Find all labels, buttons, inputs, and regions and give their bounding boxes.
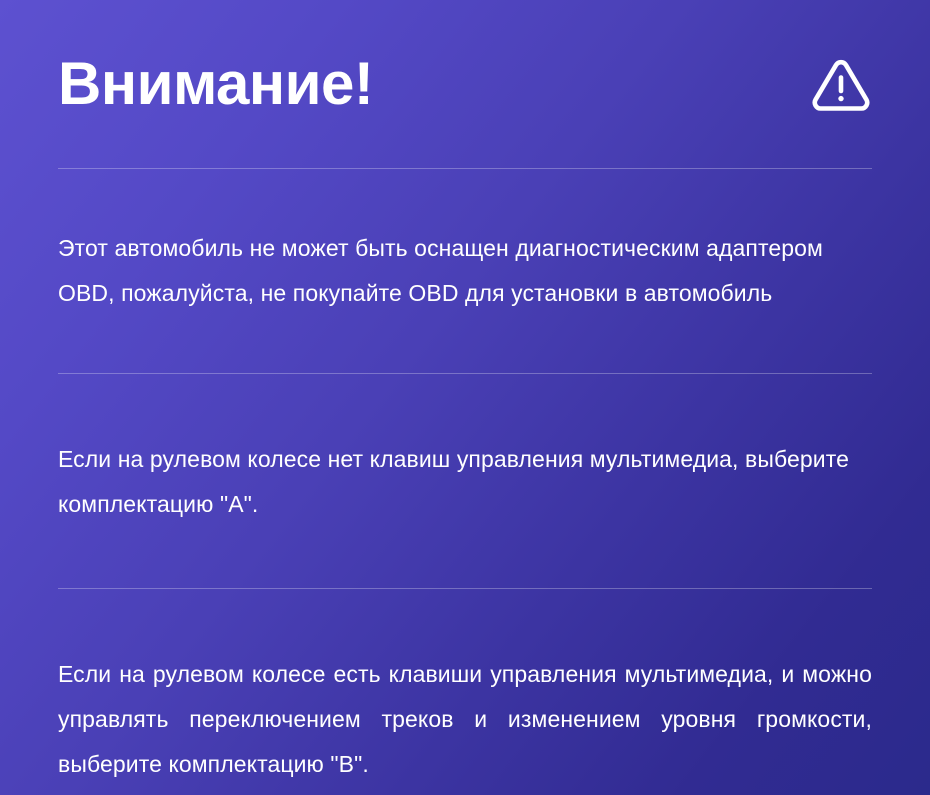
page-title: Внимание! [58, 54, 373, 114]
note-variant-b: Если на рулевом колесе есть клавиши упра… [58, 612, 872, 795]
divider-1 [58, 168, 872, 169]
note-variant-a: Если на рулевом колесе нет клавиш управл… [58, 397, 872, 565]
divider-3 [58, 588, 872, 589]
warning-triangle-icon [810, 56, 872, 112]
note-obd-warning: Этот автомобиль не может быть оснащен ди… [58, 192, 872, 350]
banner-header: Внимание! [58, 0, 872, 168]
warning-banner: Внимание! Этот автомобиль не может быть … [0, 0, 930, 795]
divider-2 [58, 373, 872, 374]
